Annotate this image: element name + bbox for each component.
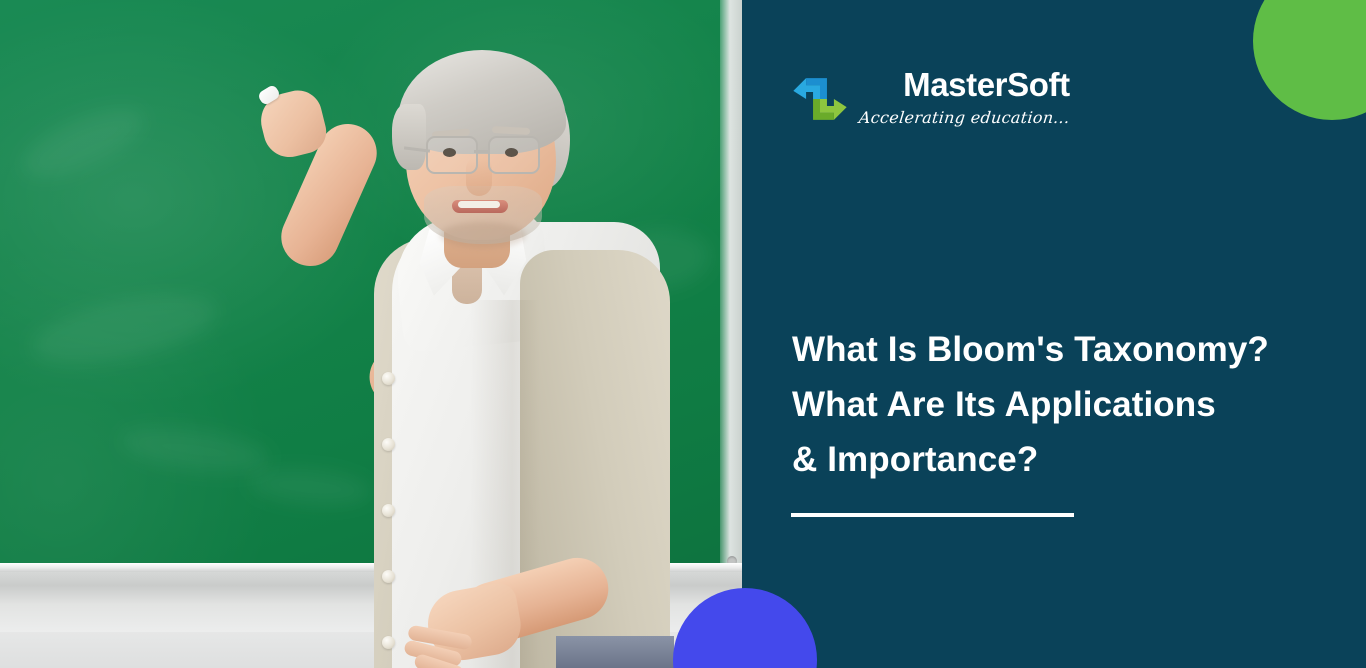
content-panel: MasterSoft Accelerating education... Wha… (742, 0, 1366, 668)
vest-button (382, 372, 395, 385)
eyeglasses-bridge (474, 150, 490, 153)
vest-button (382, 570, 395, 583)
trousers (556, 636, 674, 668)
headline-line-1: What Is Bloom's Taxonomy? (792, 323, 1312, 378)
title-underline-rule (791, 513, 1074, 517)
eyeglasses-lens-left (426, 136, 478, 174)
logo-wordmark: MasterSoft (903, 68, 1070, 101)
chin-shadow (440, 222, 526, 248)
hair-side (392, 104, 426, 170)
mastersoft-pinwheel-logo-icon (791, 70, 849, 128)
headline-line-2: What Are Its Applications (792, 378, 1312, 433)
logo-text-block: MasterSoft Accelerating education... (859, 68, 1070, 127)
headline-line-3: & Importance? (792, 433, 1312, 488)
vest-button (382, 636, 395, 649)
teacher-figure (0, 0, 742, 668)
eyeglasses-lens-right (488, 136, 540, 174)
hero-photo (0, 0, 742, 668)
blog-banner: MasterSoft Accelerating education... Wha… (0, 0, 1366, 668)
mastersoft-logo[interactable]: MasterSoft Accelerating education... (791, 68, 1070, 128)
vest-button (382, 504, 395, 517)
teeth (458, 201, 500, 208)
decorative-green-circle (1253, 0, 1366, 120)
vest-button (382, 438, 395, 451)
page-title: What Is Bloom's Taxonomy? What Are Its A… (792, 323, 1312, 487)
logo-tagline: Accelerating education... (858, 108, 1071, 127)
